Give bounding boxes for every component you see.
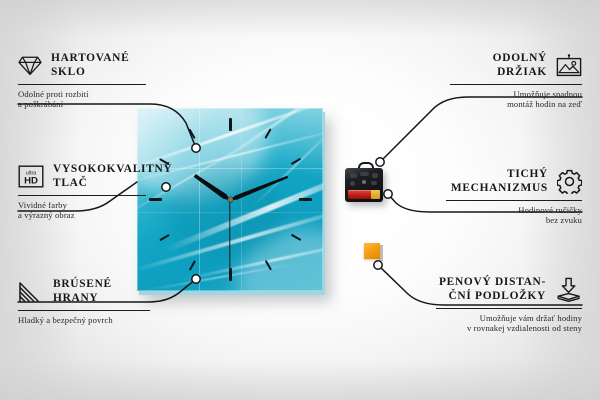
feature-title: HARTOVANÉ SKLO [51,52,129,79]
divider [446,200,582,201]
hotspot-node[interactable] [384,190,392,198]
polished-edges-icon [18,281,44,303]
picture-hanger-icon [556,54,582,77]
foam-spacer-icon [555,277,582,302]
feature-description: Umožňuje snadnou montáž hodin na zeď [450,89,582,110]
connector-top-left [18,104,196,148]
feature-description: Vividné farby a výrazný obraz [18,200,146,221]
hotspot-node[interactable] [376,158,384,166]
feature-durable-hanger: ODOLNÝ DRŽIAK Umožňuje snadnou montáž ho… [450,52,582,110]
feature-description: Umožňuje vám držať hodiny v rovnakej vzd… [436,313,582,334]
infographic-canvas: HARTOVANÉ SKLO Odolné proti rozbití a po… [0,0,600,400]
gear-icon [557,169,582,194]
hotspot-node[interactable] [192,275,200,283]
feature-title: VYSOKOKVALITNÝ TLAČ [53,163,172,190]
svg-text:HD: HD [24,176,38,187]
divider [436,308,582,309]
feature-title: TICHÝ MECHANIZMUS [451,168,548,195]
feature-description: Odolné proti rozbití a poškrábání [18,89,146,110]
hotspot-node[interactable] [374,261,382,269]
feature-polished-edges: BRÚSENÉ HRANY Hladký a bezpečný povrch [18,278,150,325]
feature-high-quality-print: ultra HD VYSOKOKVALITNÝ TLAČ Vividné far… [18,163,146,221]
feature-silent-mechanism: TICHÝ MECHANIZMUS Hodinové ručičky bez z… [446,168,582,226]
feature-description: Hodinové ručičky bez zvuku [446,205,582,226]
ultra-hd-icon: ultra HD [18,165,44,188]
divider [18,84,146,85]
diamond-icon [18,55,42,76]
feature-description: Hladký a bezpečný povrch [18,315,150,325]
feature-title: ODOLNÝ DRŽIAK [493,52,547,79]
feature-title: PENOVÝ DISTAN- ČNÍ PODLOŽKY [439,276,546,303]
divider [450,84,582,85]
hotspot-node[interactable] [192,144,200,152]
divider [18,195,146,196]
feature-title: BRÚSENÉ HRANY [53,278,112,305]
feature-foam-spacers: PENOVÝ DISTAN- ČNÍ PODLOŽKY Umožňuje vám… [436,276,582,334]
feature-tempered-glass: HARTOVANÉ SKLO Odolné proti rozbití a po… [18,52,146,110]
divider [18,310,150,311]
